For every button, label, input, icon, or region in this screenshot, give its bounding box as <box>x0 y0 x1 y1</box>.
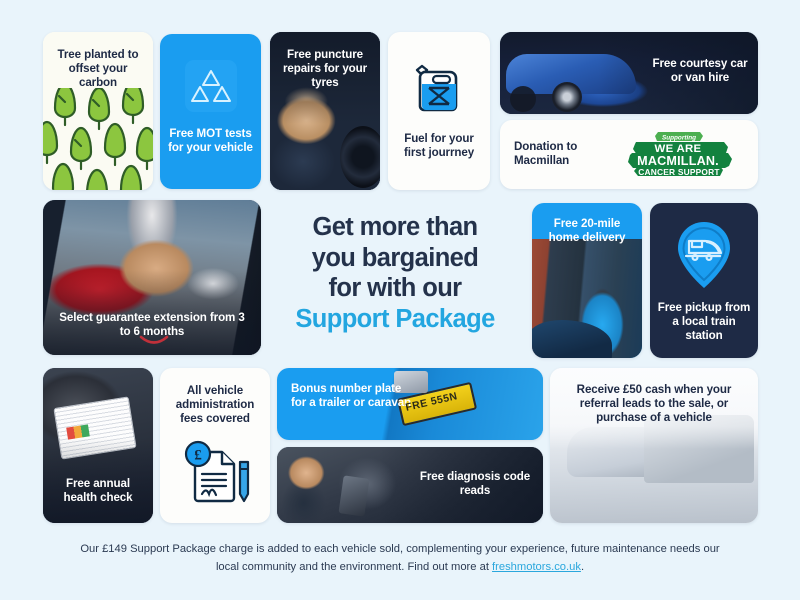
macmillan-logo: Supporting WE ARE MACMILLAN. CANCER SUPP… <box>628 130 734 185</box>
card-admin-fees-label: All vehicle administration fees covered <box>166 384 264 426</box>
footer-text: Our £149 Support Package charge is added… <box>80 543 719 573</box>
card-referral-cash[interactable]: Receive £50 cash when your referral lead… <box>550 368 758 523</box>
footer-text-after: . <box>581 561 584 573</box>
card-free-mot-label: Free MOT tests for your vehicle <box>166 127 255 155</box>
support-package-poster: Tree planted to offset your carbon Free … <box>0 0 800 600</box>
card-courtesy-car-label: Free courtesy car or van hire <box>650 57 750 85</box>
pound-document-pen-icon: £ <box>178 438 252 509</box>
svg-text:MACMILLAN.: MACMILLAN. <box>637 154 719 168</box>
card-diagnosis-codes[interactable]: Free diagnosis code reads <box>277 447 543 523</box>
card-home-delivery[interactable]: Free 20-mile home delivery <box>532 203 642 358</box>
hero-line-2: you bargained <box>270 243 520 274</box>
svg-text:CANCER SUPPORT: CANCER SUPPORT <box>638 167 720 177</box>
hero-headline: Get more than you bargained for with our… <box>270 212 520 334</box>
pound-symbol: £ <box>194 448 202 464</box>
card-puncture-repairs[interactable]: Free puncture repairs for your tyres <box>270 32 380 190</box>
card-health-check[interactable]: Free annual health check <box>43 368 153 523</box>
delivery-photo <box>532 239 642 358</box>
card-macmillan-donation-label: Donation to Macmillan <box>514 140 618 168</box>
smile-underline-icon <box>139 335 169 347</box>
card-referral-cash-label: Receive £50 cash when your referral lead… <box>558 383 750 425</box>
card-guarantee-extension[interactable]: Select guarantee extension from 3 to 6 m… <box>43 200 261 355</box>
card-number-plate-label: Bonus number plate for a trailer or cara… <box>291 382 416 410</box>
jerry-can-icon <box>413 58 465 119</box>
card-tree-planted-label: Tree planted to offset your carbon <box>49 48 147 90</box>
card-train-pickup[interactable]: Free pickup from a local train station <box>650 203 758 358</box>
card-number-plate[interactable]: Bonus number plate for a trailer or cara… <box>277 368 543 440</box>
mot-triangles-icon <box>183 60 239 117</box>
footer-disclaimer: Our £149 Support Package charge is added… <box>70 540 730 576</box>
hero-line-4-accent: Support Package <box>270 304 520 335</box>
card-free-mot[interactable]: Free MOT tests for your vehicle <box>160 34 261 189</box>
card-macmillan-donation[interactable]: Donation to Macmillan Supporting WE ARE … <box>500 120 758 189</box>
card-admin-fees[interactable]: All vehicle administration fees covered … <box>160 368 270 523</box>
card-fuel[interactable]: Fuel for your first jourrney <box>388 32 490 190</box>
card-tree-planted[interactable]: Tree planted to offset your carbon <box>43 32 153 190</box>
svg-text:Supporting: Supporting <box>662 135 696 142</box>
hero-line-3: for with our <box>270 273 520 304</box>
card-puncture-repairs-label: Free puncture repairs for your tyres <box>276 48 374 90</box>
footer-link[interactable]: freshmotors.co.uk <box>492 561 581 573</box>
card-diagnosis-codes-label: Free diagnosis code reads <box>417 470 533 498</box>
card-home-delivery-label: Free 20-mile home delivery <box>538 217 636 245</box>
hero-line-1: Get more than <box>270 212 520 243</box>
card-health-check-label: Free annual health check <box>49 477 147 505</box>
card-train-pickup-label: Free pickup from a local train station <box>656 301 752 343</box>
train-map-pin-icon <box>673 219 735 296</box>
card-courtesy-car[interactable]: Free courtesy car or van hire <box>500 32 758 114</box>
card-fuel-label: Fuel for your first jourrney <box>394 132 484 160</box>
